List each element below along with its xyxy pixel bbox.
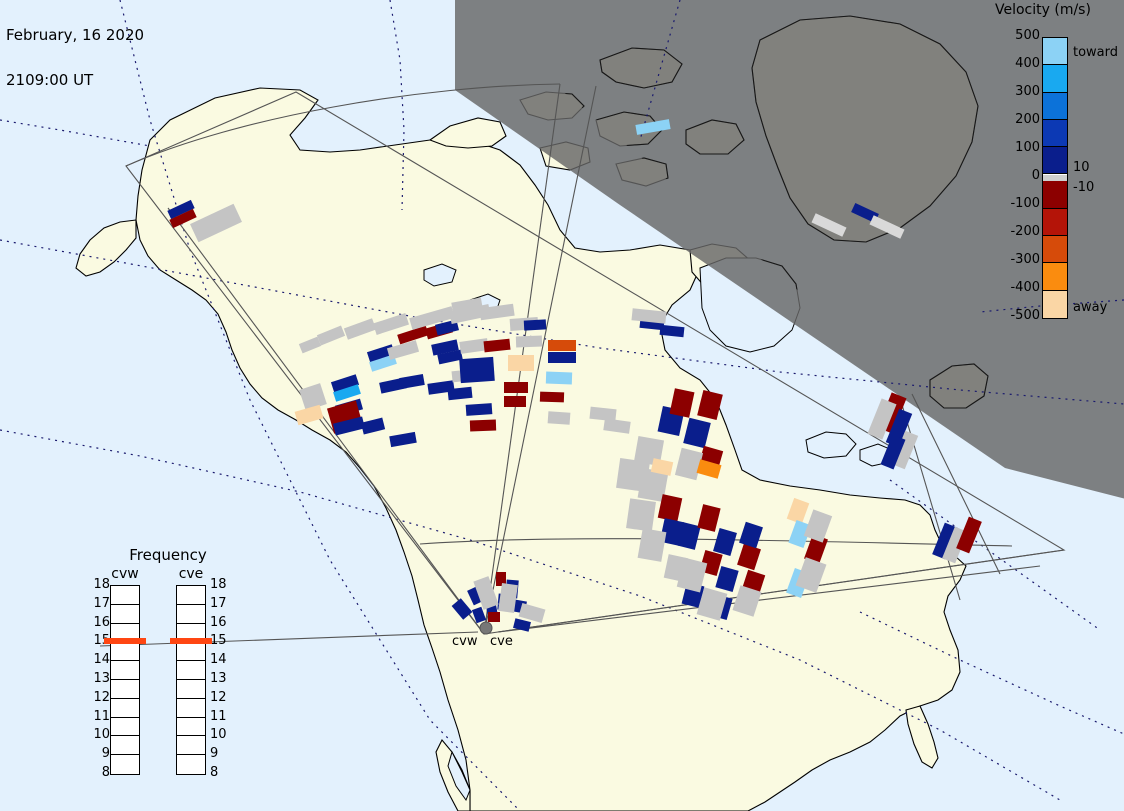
timestamp-overlay: February, 16 2020 2109:00 UT: [6, 0, 144, 118]
colorbar-swatch: [1043, 291, 1067, 318]
frequency-bar-segment: [177, 661, 205, 680]
superdarn-velocity-map: cvw cve February, 16 2020 2109:00 UT Vel…: [0, 0, 1124, 811]
velocity-cell: [483, 339, 510, 353]
velocity-cell: [635, 119, 670, 135]
velocity-cell: [540, 392, 564, 403]
ground-scatter-cell: [190, 204, 242, 242]
velocity-cell: [504, 396, 526, 407]
velocity-cell: [452, 598, 473, 620]
frequency-bar-segment: [111, 586, 139, 605]
velocity-cell: [399, 374, 425, 389]
frequency-bar-segment: [177, 680, 205, 699]
ground-scatter-cell: [317, 326, 345, 346]
colorbar-swatch: [1043, 263, 1067, 290]
frequency-column-label-cvw: cvw: [104, 566, 146, 582]
colorbar-positive-threshold-label: 10: [1073, 160, 1090, 175]
frequency-scale-label: 8: [210, 765, 232, 780]
velocity-cell: [660, 325, 685, 337]
ground-scatter-cell: [589, 407, 616, 422]
frequency-bar-segment: [111, 699, 139, 718]
frequency-scale-label: 15: [210, 633, 232, 648]
colorbar-swatch: [1043, 38, 1067, 65]
frequency-scale-label: 17: [88, 596, 110, 611]
radar-site-label-cvw: cvw: [452, 634, 477, 649]
velocity-cell: [295, 405, 324, 426]
frequency-scale-label: 14: [88, 652, 110, 667]
frequency-marker-cve: [170, 638, 212, 644]
colorbar-swatch: [1043, 236, 1067, 263]
frequency-bar-segment: [177, 605, 205, 624]
ground-scatter-cell: [804, 509, 832, 542]
ground-scatter-cell: [516, 336, 542, 348]
velocity-cell: [697, 390, 723, 420]
colorbar-swatch: [1043, 174, 1067, 181]
velocity-cell: [508, 355, 534, 371]
velocity-cell: [697, 504, 720, 532]
frequency-bar-cvw: [110, 585, 140, 775]
frequency-scale-label: 10: [88, 727, 110, 742]
frequency-bar-segment: [111, 718, 139, 737]
velocity-cell: [869, 215, 904, 238]
colorbar-tick-label: -300: [994, 252, 1040, 267]
frequency-bar-segment: [111, 605, 139, 624]
frequency-scale-label: 8: [88, 765, 110, 780]
velocity-cell: [488, 612, 500, 622]
velocity-cell: [466, 403, 493, 416]
ground-scatter-cell: [626, 498, 656, 531]
frequency-bar-segment: [111, 680, 139, 699]
frequency-bar-cve: [176, 585, 206, 775]
frequency-scale-label: 18: [88, 577, 110, 592]
velocity-cell: [713, 528, 737, 556]
frequency-bar-segment: [177, 586, 205, 605]
frequency-scale-label: 14: [210, 652, 232, 667]
frequency-scale-label: 10: [210, 727, 232, 742]
colorbar-tick-label: 500: [994, 28, 1040, 43]
frequency-bar-segment: [177, 718, 205, 737]
colorbar-away-label: away: [1073, 300, 1107, 315]
frequency-scale-label: 12: [210, 690, 232, 705]
ground-scatter-cell: [603, 418, 630, 434]
velocity-cell: [548, 340, 576, 351]
velocity-cell: [361, 418, 385, 435]
frequency-bar-segment: [111, 661, 139, 680]
ground-scatter-cell: [631, 308, 666, 323]
colorbar-swatch: [1043, 120, 1067, 147]
colorbar-tick-label: -100: [994, 196, 1040, 211]
velocity-cell: [737, 544, 761, 570]
frequency-scale-label: 13: [210, 671, 232, 686]
colorbar-tick-label: -500: [994, 308, 1040, 323]
colorbar-tick-label: -200: [994, 224, 1040, 239]
frequency-bar-segment: [177, 736, 205, 755]
colorbar-swatch: [1043, 93, 1067, 120]
velocity-cell: [459, 357, 495, 383]
frequency-scale-label: 13: [88, 671, 110, 686]
frequency-bar-segment: [111, 736, 139, 755]
colorbar-swatch: [1043, 209, 1067, 236]
velocity-cell: [389, 432, 417, 447]
timestamp-date: February, 16 2020: [6, 28, 144, 43]
velocity-cell: [504, 382, 528, 393]
frequency-scale-label: 17: [210, 596, 232, 611]
frequency-scale-label: 18: [210, 577, 232, 592]
velocity-cell: [470, 420, 496, 432]
velocity-cell: [513, 618, 531, 632]
colorbar-toward-label: toward: [1073, 45, 1118, 60]
frequency-scale-label: 9: [210, 746, 232, 761]
velocity-cell: [546, 372, 572, 385]
frequency-bar-segment: [111, 755, 139, 774]
velocity-colorbar: Velocity (m/s) 5004003002001000-100-200-…: [985, 0, 1124, 335]
colorbar-swatch: [1043, 65, 1067, 92]
frequency-scale-label: 12: [88, 690, 110, 705]
radar-site-label-cve: cve: [490, 634, 513, 649]
colorbar-tick-label: 400: [994, 56, 1040, 71]
frequency-bar-segment: [177, 642, 205, 661]
frequency-bar-segment: [111, 642, 139, 661]
frequency-scale-label: 11: [88, 709, 110, 724]
colorbar-swatch: [1043, 147, 1067, 174]
frequency-legend: Frequency cvw cve 18171615141312111098 1…: [88, 546, 248, 786]
velocity-cell: [739, 522, 763, 548]
velocity-cell: [811, 213, 846, 236]
colorbar-title: Velocity (m/s): [995, 2, 1091, 18]
frequency-column-label-cve: cve: [170, 566, 212, 582]
velocity-cell: [670, 388, 695, 418]
colorbar-swatch: [1043, 181, 1067, 208]
colorbar-tick-label: 100: [994, 140, 1040, 155]
colorbar-tick-label: -400: [994, 280, 1040, 295]
ground-scatter-cell: [548, 411, 571, 425]
velocity-cell: [715, 566, 738, 592]
frequency-scale-label: 16: [88, 615, 110, 630]
frequency-marker-cvw: [104, 638, 146, 644]
colorbar-negative-threshold-label: -10: [1073, 180, 1094, 195]
colorbar-tick-label: 200: [994, 112, 1040, 127]
frequency-bar-segment: [177, 755, 205, 774]
velocity-cell: [683, 418, 711, 449]
frequency-legend-title: Frequency: [88, 546, 248, 564]
ground-scatter-cell: [344, 318, 376, 340]
velocity-cell: [524, 319, 546, 330]
timestamp-time: 2109:00 UT: [6, 73, 144, 88]
frequency-scale-label: 11: [210, 709, 232, 724]
frequency-bar-segment: [177, 699, 205, 718]
colorbar-tick-label: 300: [994, 84, 1040, 99]
ground-scatter-cell: [675, 448, 703, 480]
velocity-cell: [787, 498, 810, 524]
frequency-scale-label: 16: [210, 615, 232, 630]
frequency-scale-label: 9: [88, 746, 110, 761]
ground-scatter-cell: [638, 528, 667, 562]
ground-scatter-cell: [373, 313, 409, 335]
ground-scatter-cell: [299, 337, 321, 354]
colorbar-swatches: [1042, 37, 1068, 319]
velocity-cell: [548, 352, 576, 363]
colorbar-tick-label: 0: [994, 168, 1040, 183]
